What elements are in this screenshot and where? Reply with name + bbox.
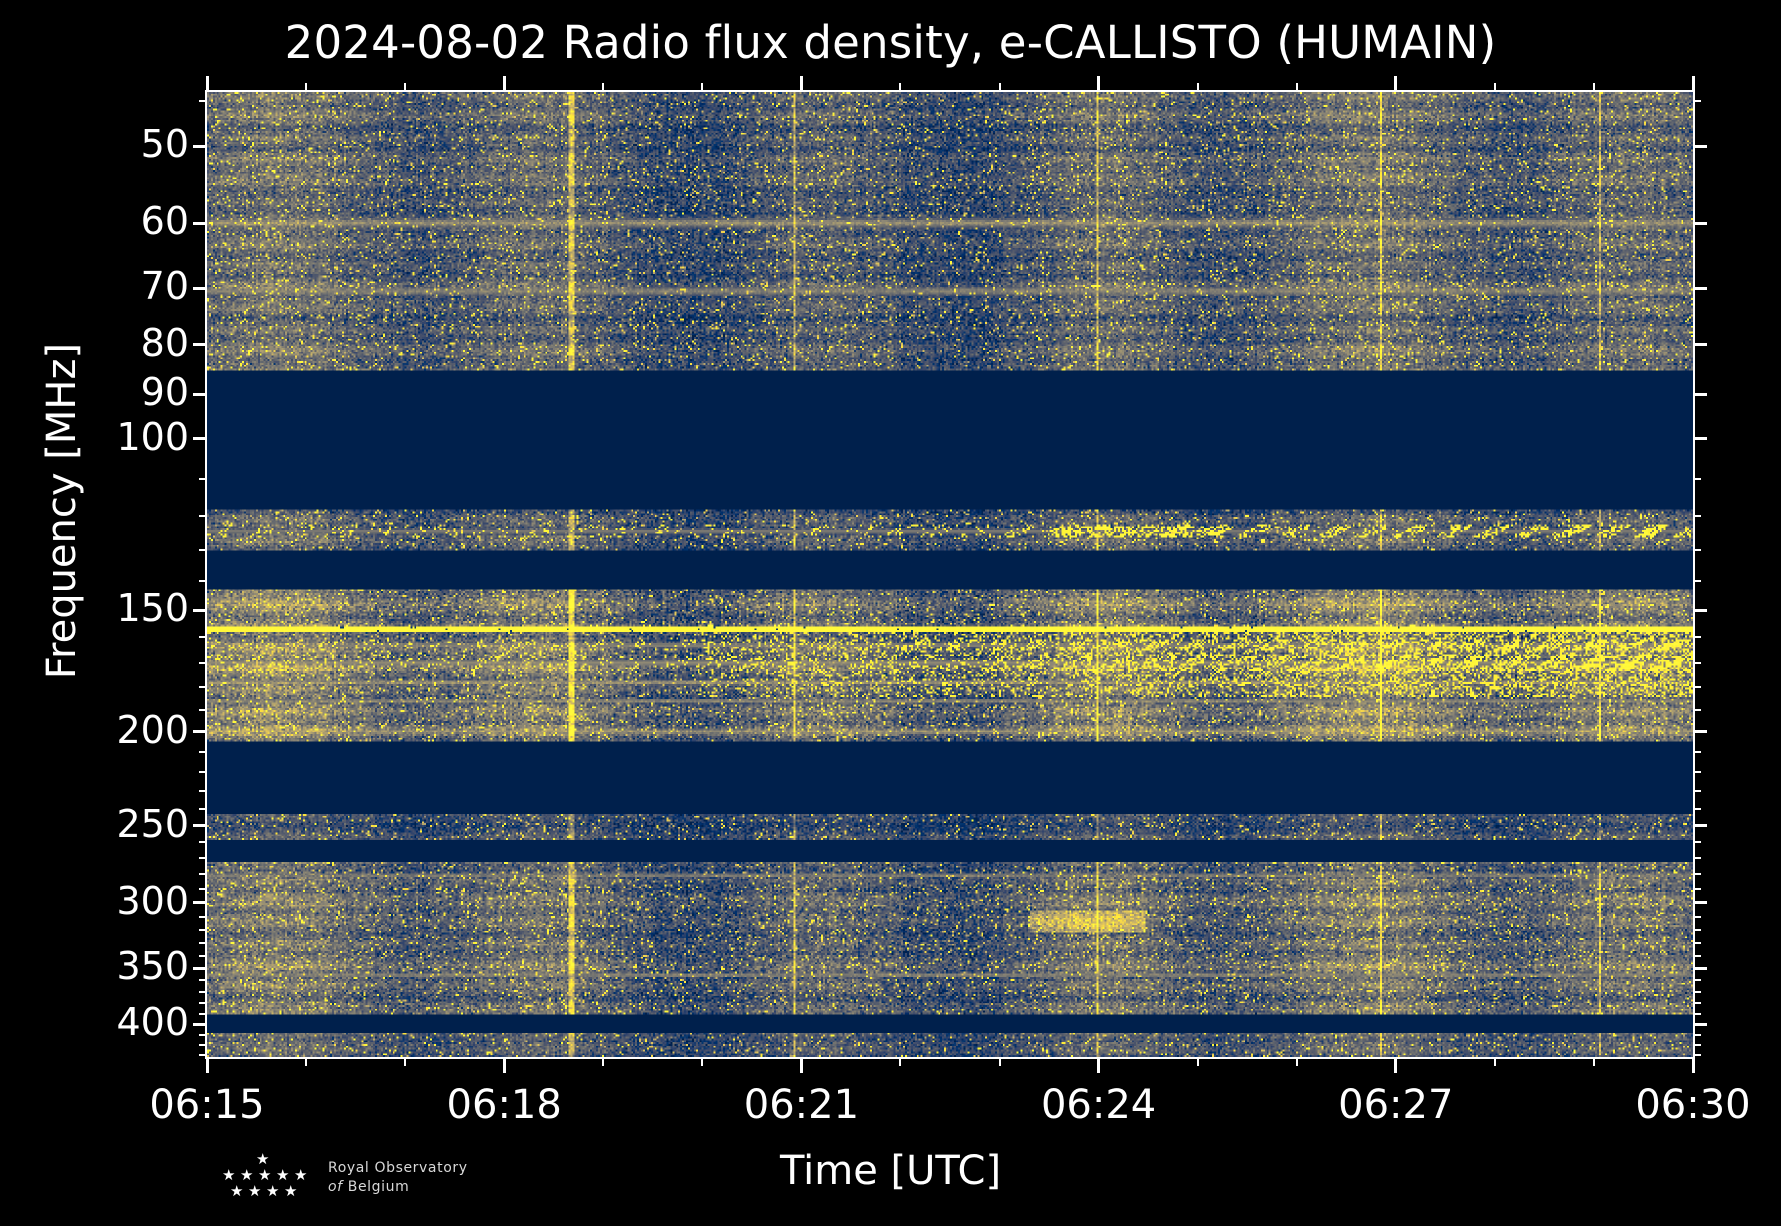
y-minor-tick	[199, 790, 207, 792]
x-tick-label: 06:15	[97, 1082, 317, 1128]
y-minor-tick-right	[1693, 100, 1701, 102]
y-tick-mark	[193, 967, 207, 970]
x-tick-label: 06:27	[1286, 1082, 1506, 1128]
x-tick-mark-top	[206, 76, 209, 92]
y-minor-tick-right	[1693, 549, 1701, 551]
x-tick-mark-top	[1097, 76, 1100, 92]
x-tick-mark	[1692, 1057, 1695, 1073]
y-minor-tick	[199, 991, 207, 993]
y-tick-mark	[193, 609, 207, 612]
y-minor-tick	[199, 686, 207, 688]
logo-line-1: Royal Observatory	[328, 1160, 468, 1176]
y-tick-mark-right	[1693, 393, 1707, 396]
y-minor-tick	[199, 1044, 207, 1046]
y-minor-tick-right	[1693, 686, 1701, 688]
y-tick-mark-right	[1693, 901, 1707, 904]
x-minor-tick-top	[305, 83, 307, 92]
star-icon: ★	[248, 1184, 261, 1199]
y-tick-label: 300	[116, 882, 189, 920]
y-minor-tick-right	[1693, 709, 1701, 711]
plot-area[interactable]	[207, 92, 1693, 1057]
y-tick-mark	[193, 145, 207, 148]
star-icon: ★	[256, 1152, 269, 1167]
x-tick-mark	[503, 1057, 506, 1073]
y-minor-tick-right	[1693, 942, 1701, 944]
x-minor-tick-top	[899, 83, 901, 92]
y-minor-tick	[199, 636, 207, 638]
y-tick-mark	[193, 343, 207, 346]
star-icon: ★	[276, 1168, 289, 1183]
y-minor-tick	[199, 1034, 207, 1036]
y-tick-mark	[193, 287, 207, 290]
y-minor-tick-right	[1693, 1013, 1701, 1015]
x-minor-tick-top	[701, 83, 703, 92]
y-minor-tick-right	[1693, 790, 1701, 792]
y-tick-mark-right	[1693, 343, 1707, 346]
page-title: 2024-08-02 Radio flux density, e-CALLIST…	[0, 16, 1781, 69]
x-minor-tick-top	[999, 83, 1001, 92]
logo-of-italic: of	[328, 1179, 343, 1195]
spectrogram-figure: 2024-08-02 Radio flux density, e-CALLIST…	[0, 0, 1781, 1226]
y-tick-mark	[193, 730, 207, 733]
star-icon: ★	[284, 1184, 297, 1199]
y-minor-tick-right	[1693, 1034, 1701, 1036]
y-minor-tick-right	[1693, 751, 1701, 753]
royal-observatory-logo: ★★★★★★★★★★ Royal Observatory of Belgium	[196, 1154, 526, 1216]
y-minor-tick	[199, 549, 207, 551]
y-tick-label: 100	[116, 418, 189, 456]
x-minor-tick-top	[1593, 83, 1595, 92]
y-minor-tick	[199, 1013, 207, 1015]
y-tick-label: 90	[141, 373, 189, 411]
star-icon: ★	[294, 1168, 307, 1183]
spectrogram-image	[207, 92, 1693, 1057]
x-minor-tick	[1296, 1057, 1298, 1066]
x-minor-tick-top	[1197, 83, 1199, 92]
y-tick-mark-right	[1693, 730, 1707, 733]
x-minor-tick	[305, 1057, 307, 1066]
y-minor-tick-right	[1693, 888, 1701, 890]
y-minor-tick	[199, 100, 207, 102]
y-tick-mark-right	[1693, 967, 1707, 970]
y-minor-tick-right	[1693, 873, 1701, 875]
y-minor-tick-right	[1693, 662, 1701, 664]
x-minor-tick	[1197, 1057, 1199, 1066]
x-tick-mark	[1394, 1057, 1397, 1073]
y-minor-tick	[199, 873, 207, 875]
eu-stars-icon: ★★★★★★★★★★	[196, 1154, 321, 1210]
y-minor-tick	[199, 979, 207, 981]
y-tick-mark-right	[1693, 1023, 1707, 1026]
star-icon: ★	[240, 1168, 253, 1183]
star-icon: ★	[230, 1184, 243, 1199]
y-minor-tick	[199, 771, 207, 773]
x-tick-label: 06:18	[394, 1082, 614, 1128]
y-tick-mark-right	[1693, 145, 1707, 148]
y-tick-mark	[193, 824, 207, 827]
y-tick-label: 80	[141, 324, 189, 362]
y-minor-tick-right	[1693, 979, 1701, 981]
y-minor-tick-right	[1693, 841, 1701, 843]
x-tick-mark	[800, 1057, 803, 1073]
y-minor-tick	[199, 709, 207, 711]
x-minor-tick	[701, 1057, 703, 1066]
y-minor-tick	[199, 888, 207, 890]
y-minor-tick	[199, 929, 207, 931]
x-minor-tick-top	[1494, 83, 1496, 92]
y-tick-mark-right	[1693, 287, 1707, 290]
x-tick-mark-top	[1692, 76, 1695, 92]
x-tick-mark-top	[503, 76, 506, 92]
star-icon: ★	[222, 1168, 235, 1183]
y-minor-tick	[199, 942, 207, 944]
y-minor-tick	[199, 857, 207, 859]
y-minor-tick	[199, 751, 207, 753]
y-tick-label: 50	[141, 125, 189, 163]
y-tick-mark-right	[1693, 437, 1707, 440]
y-minor-tick-right	[1693, 857, 1701, 859]
y-minor-tick-right	[1693, 771, 1701, 773]
y-minor-tick	[199, 478, 207, 480]
x-minor-tick-top	[404, 83, 406, 92]
y-minor-tick	[199, 515, 207, 517]
x-tick-mark	[206, 1057, 209, 1073]
x-minor-tick	[899, 1057, 901, 1066]
x-tick-label: 06:21	[691, 1082, 911, 1128]
x-tick-label: 06:24	[989, 1082, 1209, 1128]
spectrogram-canvas	[207, 92, 1693, 1057]
y-tick-label: 70	[141, 267, 189, 305]
y-tick-label: 200	[116, 711, 189, 749]
logo-line-2: of Belgium	[328, 1179, 468, 1195]
y-tick-mark-right	[1693, 609, 1707, 612]
y-minor-tick	[199, 662, 207, 664]
y-minor-tick-right	[1693, 478, 1701, 480]
y-tick-label: 350	[116, 947, 189, 985]
y-tick-mark	[193, 901, 207, 904]
y-tick-mark	[193, 393, 207, 396]
y-minor-tick	[199, 1002, 207, 1004]
x-minor-tick	[404, 1057, 406, 1066]
x-minor-tick	[1494, 1057, 1496, 1066]
x-tick-mark	[1097, 1057, 1100, 1073]
y-minor-tick-right	[1693, 580, 1701, 582]
x-tick-label: 06:30	[1583, 1082, 1781, 1128]
y-minor-tick-right	[1693, 515, 1701, 517]
y-tick-label: 60	[141, 202, 189, 240]
y-minor-tick-right	[1693, 955, 1701, 957]
y-minor-tick-right	[1693, 636, 1701, 638]
y-tick-label: 250	[116, 805, 189, 843]
x-minor-tick	[1593, 1057, 1595, 1066]
y-tick-mark	[193, 1023, 207, 1026]
y-minor-tick-right	[1693, 808, 1701, 810]
y-minor-tick-right	[1693, 929, 1701, 931]
y-tick-label: 400	[116, 1003, 189, 1041]
y-tick-mark	[193, 437, 207, 440]
y-minor-tick	[199, 580, 207, 582]
star-icon: ★	[258, 1168, 271, 1183]
y-tick-mark-right	[1693, 222, 1707, 225]
star-icon: ★	[266, 1184, 279, 1199]
x-tick-mark-top	[1394, 76, 1397, 92]
x-minor-tick	[602, 1057, 604, 1066]
y-minor-tick-right	[1693, 916, 1701, 918]
y-tick-label: 150	[116, 589, 189, 627]
y-minor-tick-right	[1693, 1002, 1701, 1004]
x-minor-tick-top	[1296, 83, 1298, 92]
logo-belgium: Belgium	[348, 1179, 410, 1195]
y-minor-tick	[199, 955, 207, 957]
y-minor-tick-right	[1693, 1044, 1701, 1046]
y-minor-tick	[199, 841, 207, 843]
y-minor-tick	[199, 1054, 207, 1056]
y-tick-mark	[193, 222, 207, 225]
y-tick-mark-right	[1693, 824, 1707, 827]
y-minor-tick	[199, 808, 207, 810]
x-tick-mark-top	[800, 76, 803, 92]
y-minor-tick-right	[1693, 991, 1701, 993]
x-minor-tick-top	[602, 83, 604, 92]
x-minor-tick	[999, 1057, 1001, 1066]
y-minor-tick	[199, 916, 207, 918]
y-minor-tick-right	[1693, 1054, 1701, 1056]
logo-text: Royal Observatory of Belgium	[328, 1160, 468, 1195]
y-axis-label: Frequency [MHz]	[39, 31, 85, 991]
